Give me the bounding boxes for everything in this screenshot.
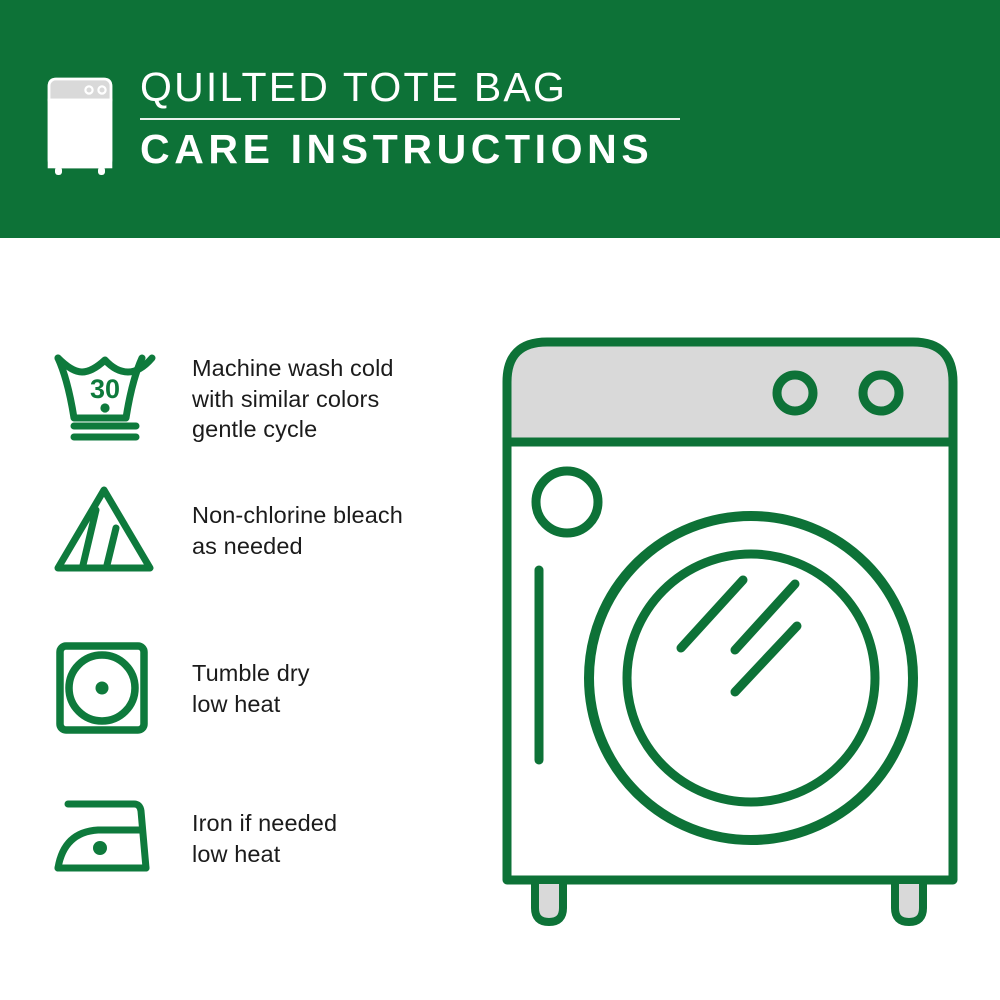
- machine-leg-left: [535, 880, 563, 922]
- care-instruction-list: 30 Machine wash cold with similar colors…: [0, 238, 470, 1000]
- front-load-washing-machine-illustration: [495, 330, 965, 930]
- washing-machine-icon: [44, 72, 116, 176]
- care-instructions-infographic: QUILTED TOTE BAG CARE INSTRUCTIONS 30: [0, 0, 1000, 1000]
- header-title-block: QUILTED TOTE BAG CARE INSTRUCTIONS: [140, 66, 700, 171]
- page-subtitle: CARE INSTRUCTIONS: [140, 128, 700, 171]
- care-item-label: Iron if needed low heat: [192, 788, 337, 869]
- tumble-dry-low-icon: [50, 638, 160, 738]
- header-banner: QUILTED TOTE BAG CARE INSTRUCTIONS: [0, 0, 1000, 238]
- care-item-label: Tumble dry low heat: [192, 638, 310, 719]
- wash-temp-value: 30: [90, 374, 120, 404]
- machine-leg-right: [895, 880, 923, 922]
- wash-tub-30-gentle-icon: 30: [50, 342, 160, 442]
- care-item-iron: Iron if needed low heat: [50, 788, 337, 888]
- care-item-wash: 30 Machine wash cold with similar colors…: [50, 342, 394, 445]
- care-item-tumble-dry: Tumble dry low heat: [50, 638, 310, 738]
- title-divider: [140, 118, 680, 120]
- care-item-label: Non-chlorine bleach as needed: [192, 480, 403, 561]
- non-chlorine-bleach-triangle-icon: [50, 480, 160, 580]
- indicator-light-icon: [536, 471, 598, 533]
- care-item-bleach: Non-chlorine bleach as needed: [50, 480, 403, 580]
- iron-low-heat-icon: [50, 788, 160, 888]
- care-item-label: Machine wash cold with similar colors ge…: [192, 342, 394, 445]
- page-title: QUILTED TOTE BAG: [140, 66, 700, 109]
